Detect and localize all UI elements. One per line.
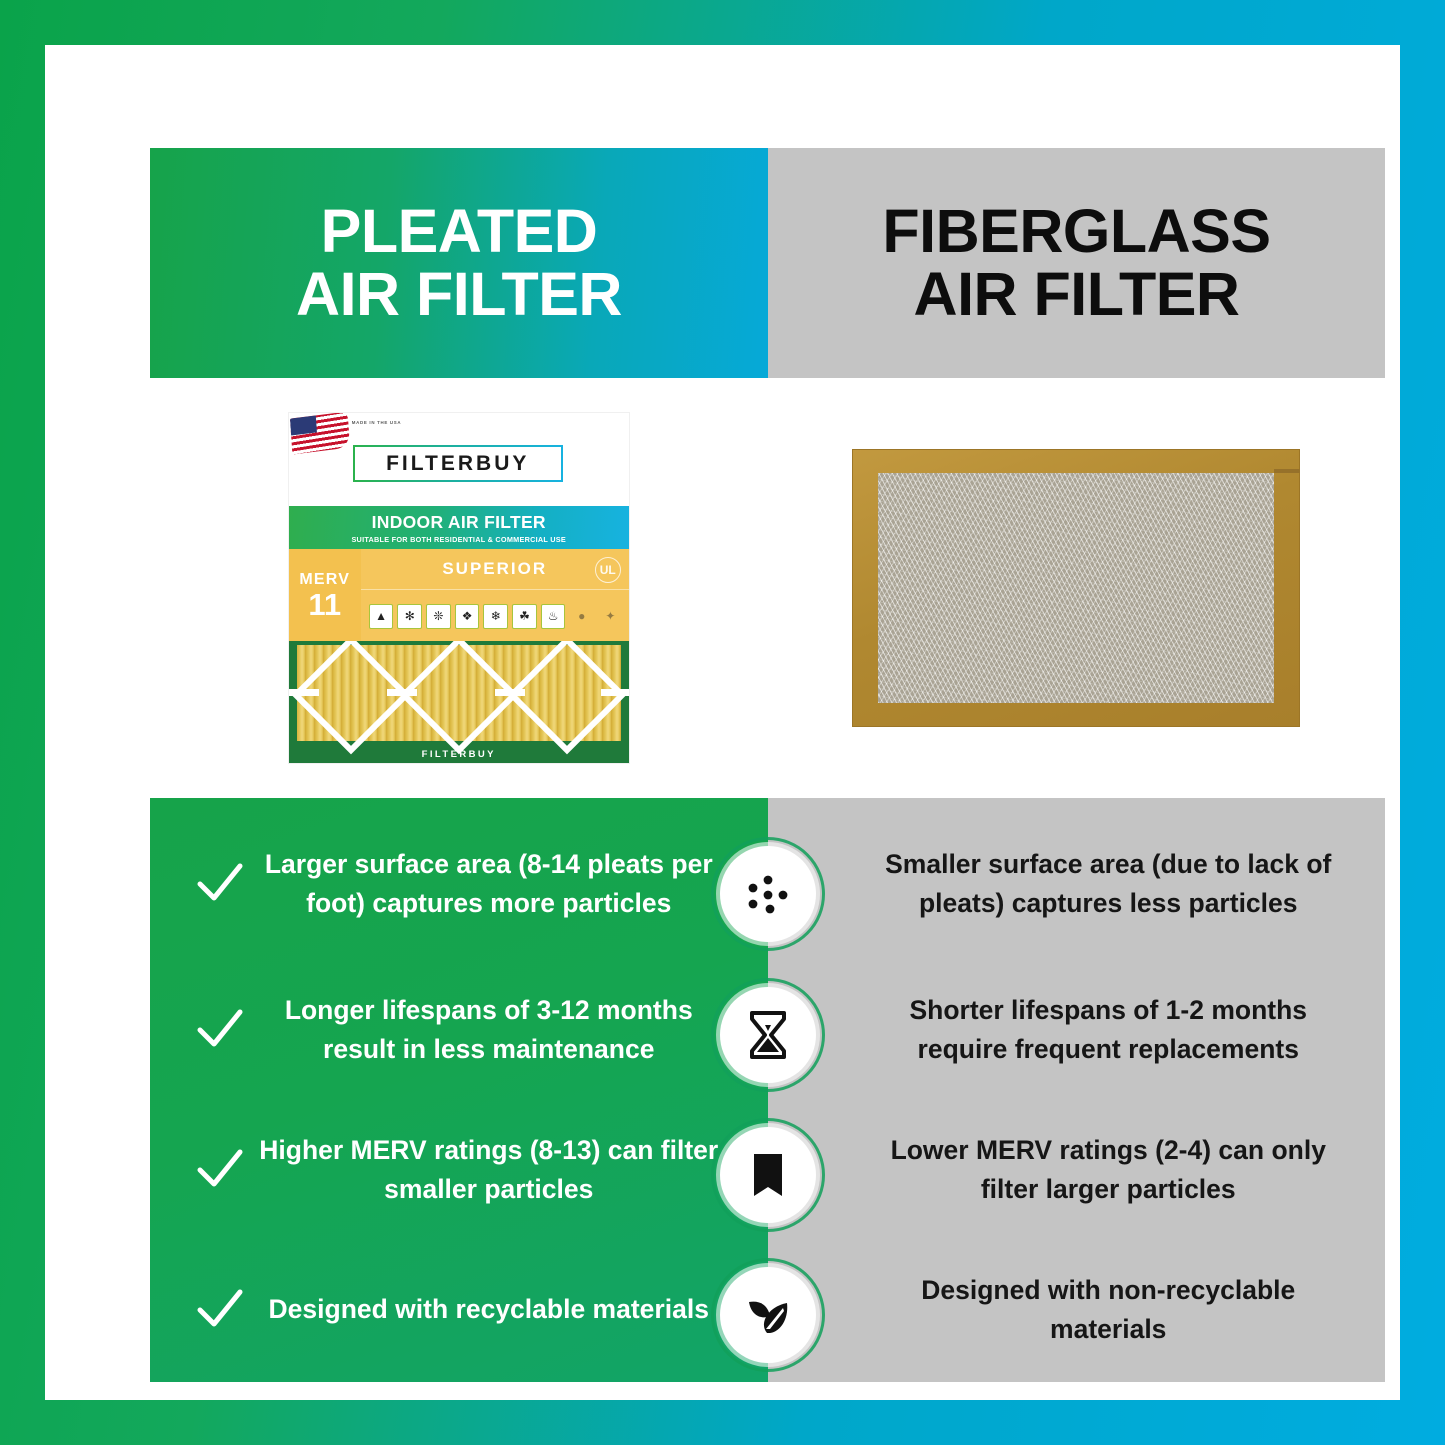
- header-pleated-panel: PLEATED AIR FILTER: [150, 148, 768, 378]
- support-brace: [387, 689, 417, 696]
- merv-value: 11: [308, 590, 341, 619]
- made-in-usa-label: MADE IN THE USA: [352, 420, 402, 427]
- insect-icon: ✻: [397, 604, 422, 629]
- row-left-text: Longer lifespans of 3-12 months result i…: [252, 991, 750, 1069]
- row-left-text: Designed with recyclable materials: [252, 1290, 750, 1329]
- hourglass-icon: [720, 987, 816, 1083]
- row-right-text: Shorter lifespans of 1-2 months require …: [868, 991, 1350, 1069]
- row-left-cell: Designed with recyclable materials: [150, 1240, 768, 1380]
- bookmark-icon: [720, 1127, 816, 1223]
- comparison-rows: Larger surface area (8-14 pleats per foo…: [150, 798, 1385, 1382]
- row-left-text: Larger surface area (8-14 pleats per foo…: [252, 845, 750, 923]
- outer-gradient-frame: PLEATED AIR FILTER FIBERGLASS AIR FILTER…: [0, 0, 1445, 1445]
- tier-label: SUPERIOR: [442, 559, 547, 579]
- usa-flag-icon: [290, 413, 350, 454]
- mold-icon: ❖: [455, 604, 480, 629]
- filterbuy-wordmark: FILTERBUY: [386, 452, 529, 476]
- particles-icon: [720, 846, 816, 942]
- filtration-icons-strip: ▲ ✻ ❊ ❖ ❄ ☘ ♨ ● ✦: [369, 594, 623, 638]
- pleated-media-artwork: FILTERBUY: [289, 641, 629, 763]
- bacteria-icon: ❊: [426, 604, 451, 629]
- check-icon: [188, 858, 252, 910]
- header-row: PLEATED AIR FILTER FIBERGLASS AIR FILTER: [150, 148, 1385, 378]
- header-fiberglass-panel: FIBERGLASS AIR FILTER: [768, 148, 1385, 378]
- box-bottom-wordmark: FILTERBUY: [289, 749, 629, 760]
- row-left-text: Higher MERV ratings (8-13) can filter sm…: [252, 1131, 750, 1209]
- row-left-cell: Higher MERV ratings (8-13) can filter sm…: [150, 1100, 768, 1240]
- frame-notch: [1274, 469, 1300, 473]
- comparison-section: Larger surface area (8-14 pleats per foo…: [150, 798, 1385, 1382]
- merv-rating-block: MERV 11: [289, 549, 361, 641]
- box-top-white-area: MADE IN THE USA FILTERBUY: [289, 413, 629, 516]
- page-title-fiberglass: FIBERGLASS AIR FILTER: [882, 200, 1270, 326]
- row-right-cell: Smaller surface area (due to lack of ple…: [768, 808, 1386, 960]
- tier-row: SUPERIOR: [361, 549, 629, 590]
- band-main-label: INDOOR AIR FILTER: [372, 512, 546, 533]
- row-right-cell: Lower MERV ratings (2-4) can only filter…: [768, 1100, 1386, 1240]
- row-left-cell: Larger surface area (8-14 pleats per foo…: [150, 808, 768, 960]
- fiberglass-product-image-cell: [768, 378, 1386, 798]
- row-right-text: Designed with non-recyclable materials: [868, 1271, 1350, 1349]
- row-right-text: Lower MERV ratings (2-4) can only filter…: [868, 1131, 1350, 1209]
- support-brace: [289, 689, 319, 696]
- check-icon: [188, 1284, 252, 1336]
- pleated-product-image-cell: MADE IN THE USA FILTERBUY INDOOR AIR FIL…: [150, 378, 768, 798]
- support-brace: [601, 689, 629, 696]
- check-icon: [188, 1004, 252, 1056]
- filterbuy-filter-box-image: MADE IN THE USA FILTERBUY INDOOR AIR FIL…: [289, 413, 629, 763]
- fiberglass-filter-image: [852, 449, 1300, 727]
- leaves-icon: [720, 1267, 816, 1363]
- filterbuy-logo-frame: FILTERBUY: [353, 445, 563, 482]
- check-icon: [188, 1144, 252, 1196]
- page-title-pleated: PLEATED AIR FILTER: [296, 200, 622, 326]
- row-left-cell: Longer lifespans of 3-12 months result i…: [150, 960, 768, 1100]
- indoor-air-filter-band: INDOOR AIR FILTER SUITABLE FOR BOTH RESI…: [289, 506, 629, 549]
- row-right-text: Smaller surface area (due to lack of ple…: [868, 845, 1350, 923]
- pet-dander-icon: ☘: [512, 604, 537, 629]
- fiberglass-media-texture: [878, 473, 1274, 703]
- product-images-row: MADE IN THE USA FILTERBUY INDOOR AIR FIL…: [150, 378, 1385, 798]
- pollen-icon: ❄: [483, 604, 508, 629]
- support-brace: [495, 689, 525, 696]
- virus-icon: ✦: [598, 604, 623, 629]
- odor-icon: ●: [569, 604, 594, 629]
- certification-seal-icon: UL: [595, 557, 621, 583]
- band-sub-label: SUITABLE FOR BOTH RESIDENTIAL & COMMERCI…: [351, 535, 566, 544]
- row-right-cell: Designed with non-recyclable materials: [768, 1240, 1386, 1380]
- comparison-infographic-card: PLEATED AIR FILTER FIBERGLASS AIR FILTER…: [150, 148, 1385, 1382]
- row-right-cell: Shorter lifespans of 1-2 months require …: [768, 960, 1386, 1100]
- white-mat: PLEATED AIR FILTER FIBERGLASS AIR FILTER…: [45, 45, 1400, 1400]
- merv-gold-band: MERV 11 SUPERIOR UL ▲ ✻ ❊ ❖: [289, 549, 629, 641]
- smoke-icon: ♨: [541, 604, 566, 629]
- dust-icon: ▲: [369, 604, 394, 629]
